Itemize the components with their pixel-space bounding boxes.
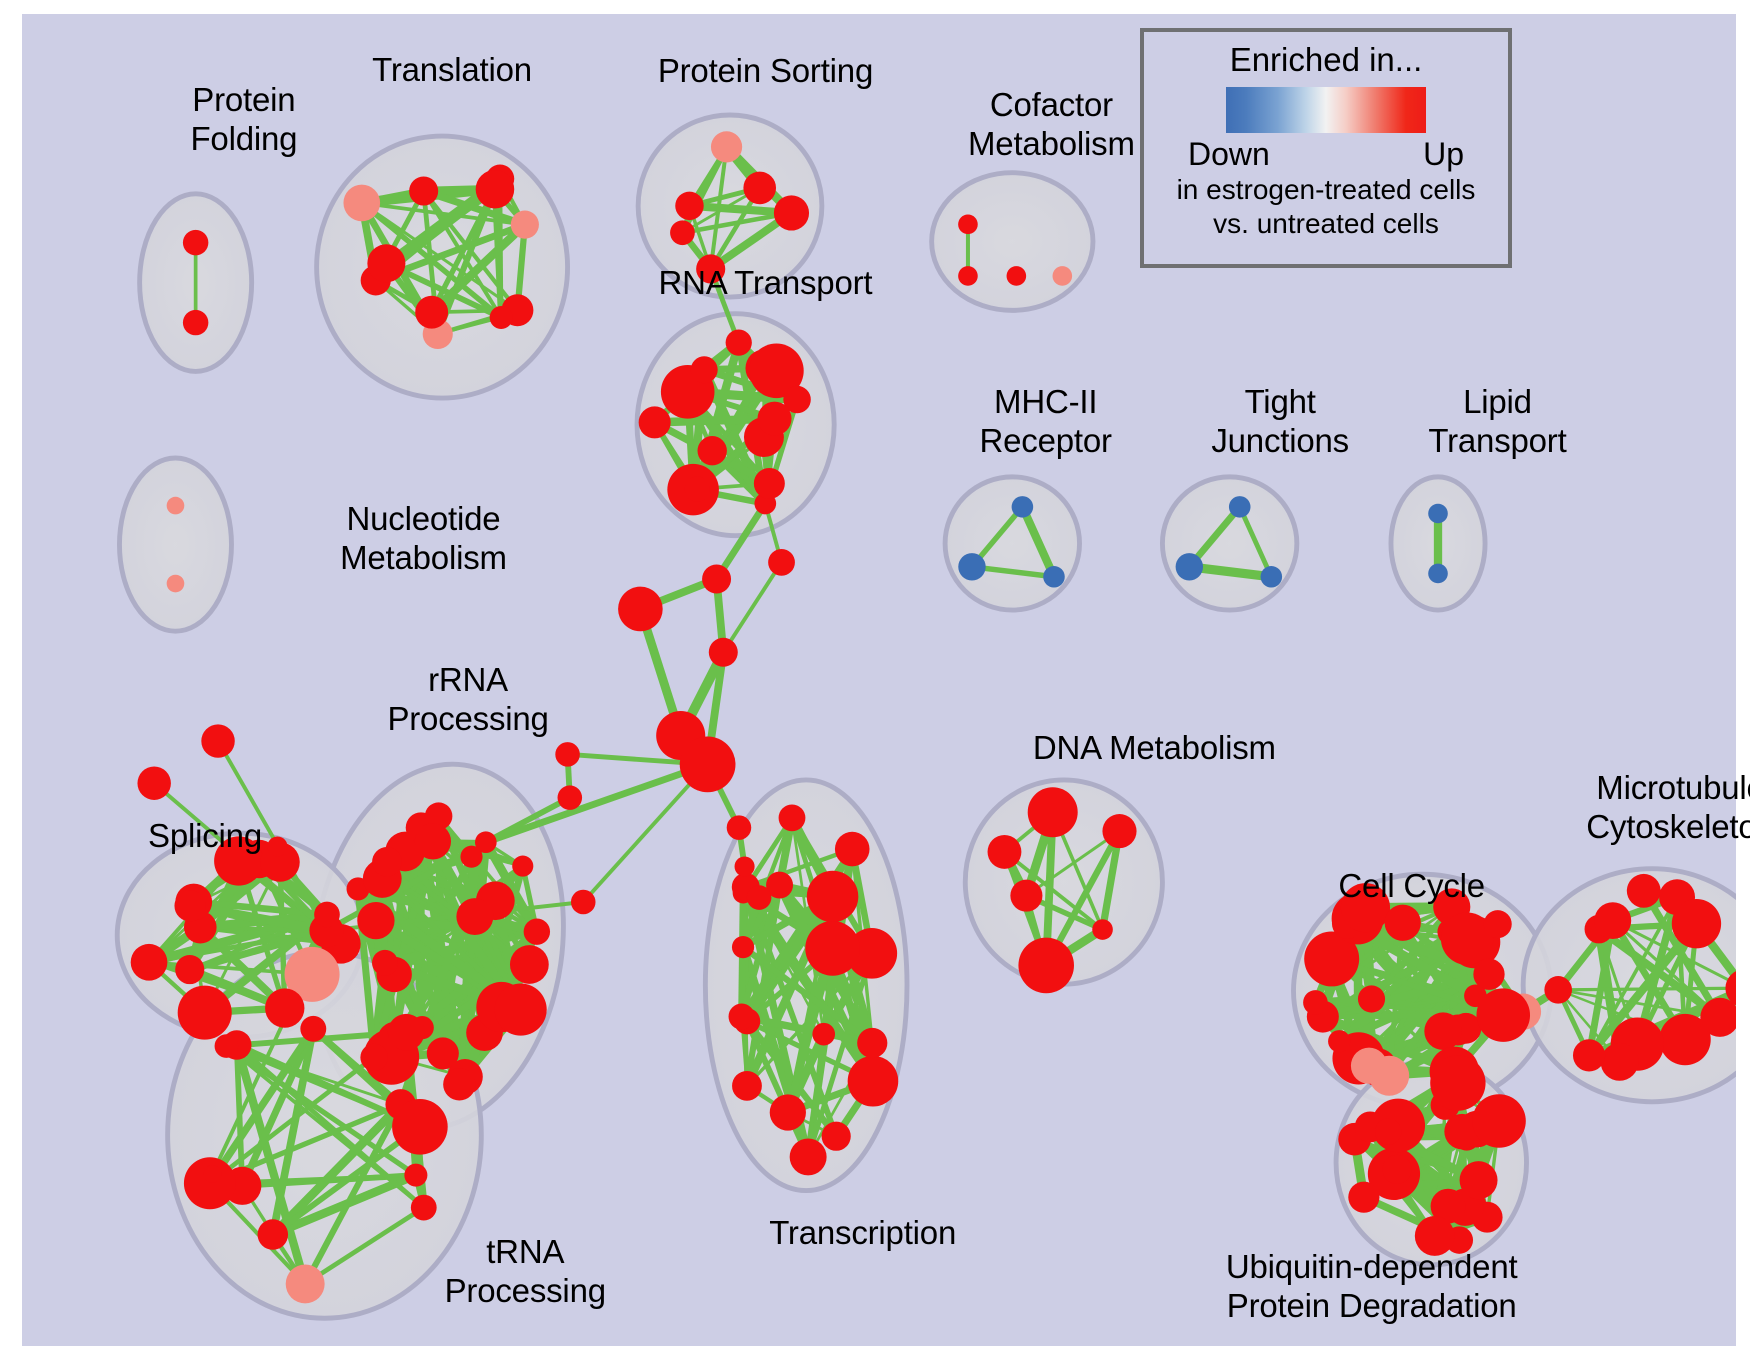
network-node xyxy=(183,310,208,335)
network-node xyxy=(1672,899,1721,948)
network-node xyxy=(360,1044,387,1071)
network-node xyxy=(685,476,710,501)
network-node xyxy=(286,1264,325,1303)
network-node xyxy=(848,1056,899,1107)
legend-color-bar xyxy=(1226,87,1426,133)
network-edge xyxy=(1558,988,1736,990)
network-node xyxy=(131,944,168,981)
network-node xyxy=(392,1099,448,1155)
network-node xyxy=(214,836,263,885)
network-node xyxy=(167,575,185,593)
network-node xyxy=(1341,883,1390,932)
network-node xyxy=(511,211,539,239)
network-node xyxy=(732,936,754,958)
network-node xyxy=(958,215,978,235)
network-node xyxy=(988,835,1022,869)
network-node xyxy=(1007,266,1027,286)
network-node xyxy=(175,955,204,984)
network-node xyxy=(1028,787,1078,837)
network-node xyxy=(1484,910,1512,938)
network-node xyxy=(1627,874,1661,908)
network-node xyxy=(258,1219,289,1250)
network-node xyxy=(758,402,792,436)
network-node xyxy=(476,170,515,209)
network-node xyxy=(372,950,398,976)
network-node xyxy=(167,497,185,515)
network-node xyxy=(835,832,870,867)
network-node xyxy=(343,185,380,222)
network-node xyxy=(709,638,738,667)
network-node xyxy=(779,804,806,831)
network-node xyxy=(680,736,736,792)
network-node xyxy=(490,306,513,329)
network-node xyxy=(475,831,497,853)
network-node xyxy=(1424,1012,1462,1050)
legend-box: Enriched in... Down Up in estrogen-treat… xyxy=(1140,28,1512,268)
network-node xyxy=(618,587,663,632)
network-node xyxy=(510,945,549,984)
network-node xyxy=(1351,1048,1387,1084)
network-node xyxy=(367,244,405,282)
legend-down-label: Down xyxy=(1188,135,1270,173)
network-figure: Protein FoldingTranslationNucleotide Met… xyxy=(0,0,1750,1360)
network-node xyxy=(558,785,583,810)
network-node xyxy=(415,296,448,329)
network-node xyxy=(1375,1118,1401,1144)
network-node xyxy=(698,436,727,465)
network-node xyxy=(265,988,304,1027)
network-node xyxy=(1328,1030,1350,1052)
network-node xyxy=(822,1122,851,1151)
network-node xyxy=(1176,553,1203,580)
network-node xyxy=(512,856,533,877)
network-node xyxy=(1053,266,1073,286)
network-node xyxy=(747,885,772,910)
network-edge xyxy=(723,562,781,652)
network-node xyxy=(670,220,695,245)
network-node xyxy=(1261,566,1283,588)
network-node xyxy=(174,890,205,921)
network-node xyxy=(443,1068,475,1100)
network-node xyxy=(774,195,809,230)
network-node xyxy=(404,1164,427,1187)
network-node xyxy=(555,742,580,767)
network-node xyxy=(427,1037,459,1069)
cluster-ellipse-mhc-ii-receptor xyxy=(945,477,1079,610)
network-node xyxy=(754,468,785,499)
network-node xyxy=(691,356,718,383)
network-node xyxy=(137,767,170,800)
network-node xyxy=(702,564,731,593)
network-node xyxy=(1012,496,1034,518)
network-node xyxy=(1601,1043,1639,1081)
network-node xyxy=(1544,976,1572,1004)
network-node xyxy=(1460,1161,1498,1199)
network-node xyxy=(1659,1014,1710,1065)
network-node xyxy=(958,266,978,286)
cluster-ellipse-cofactor-metabolism xyxy=(932,173,1093,311)
network-node xyxy=(388,1014,425,1051)
network-node xyxy=(372,847,402,877)
network-node xyxy=(675,192,703,220)
network-node xyxy=(183,230,208,255)
network-node xyxy=(1018,938,1074,994)
network-node xyxy=(1102,814,1136,848)
network-node xyxy=(314,902,340,928)
network-node xyxy=(1428,564,1448,584)
cluster-ellipse-nucleotide-metabolism xyxy=(119,458,231,631)
network-node xyxy=(571,890,596,915)
legend-caption-line2: vs. untreated cells xyxy=(1213,207,1439,241)
network-node xyxy=(807,871,859,923)
legend-title: Enriched in... xyxy=(1230,40,1423,80)
network-node xyxy=(768,549,795,576)
network-node xyxy=(215,1034,239,1058)
network-node xyxy=(1043,566,1065,588)
network-node xyxy=(415,823,451,859)
network-node xyxy=(1303,990,1328,1015)
network-node xyxy=(1472,1094,1525,1147)
network-node xyxy=(1464,984,1487,1007)
cluster-ellipse-tight-junctions xyxy=(1162,477,1296,610)
network-node xyxy=(1385,905,1421,941)
network-node xyxy=(1430,1055,1485,1110)
network-node xyxy=(732,1071,762,1101)
network-node xyxy=(411,1195,437,1221)
network-node xyxy=(727,815,752,840)
network-node xyxy=(1348,1182,1379,1213)
network-node xyxy=(958,553,985,580)
legend-up-label: Up xyxy=(1423,135,1464,173)
network-node xyxy=(178,986,232,1040)
network-node xyxy=(495,984,547,1036)
network-node xyxy=(735,856,755,876)
network-node xyxy=(1092,919,1113,940)
network-node xyxy=(1415,1216,1455,1256)
network-node xyxy=(743,172,776,205)
network-node xyxy=(770,1094,806,1130)
network-node xyxy=(639,406,671,438)
network-node xyxy=(696,254,725,283)
network-node xyxy=(409,176,438,205)
network-edge xyxy=(1323,1015,1503,1016)
network-node xyxy=(711,131,742,162)
network-node xyxy=(524,918,550,944)
network-node xyxy=(1229,496,1251,518)
network-node xyxy=(790,1138,827,1175)
network-node xyxy=(357,902,394,939)
network-node xyxy=(1010,880,1042,912)
network-node xyxy=(300,1016,326,1042)
network-node xyxy=(729,1003,755,1029)
network-node xyxy=(857,1028,887,1058)
network-node xyxy=(184,1157,236,1209)
legend-caption-line1: in estrogen-treated cells xyxy=(1177,173,1476,207)
network-node xyxy=(1358,985,1385,1012)
network-node xyxy=(812,1023,835,1046)
network-node xyxy=(1428,504,1448,524)
network-node xyxy=(456,898,493,935)
network-node xyxy=(805,921,860,976)
network-node xyxy=(1382,1155,1411,1184)
network-node xyxy=(201,724,234,757)
network-node xyxy=(726,330,752,356)
network-node xyxy=(267,836,287,856)
legend-endpoints: Down Up xyxy=(1188,135,1464,173)
network-node xyxy=(204,1165,222,1183)
network-node xyxy=(1573,1039,1605,1071)
network-node xyxy=(1594,902,1631,939)
